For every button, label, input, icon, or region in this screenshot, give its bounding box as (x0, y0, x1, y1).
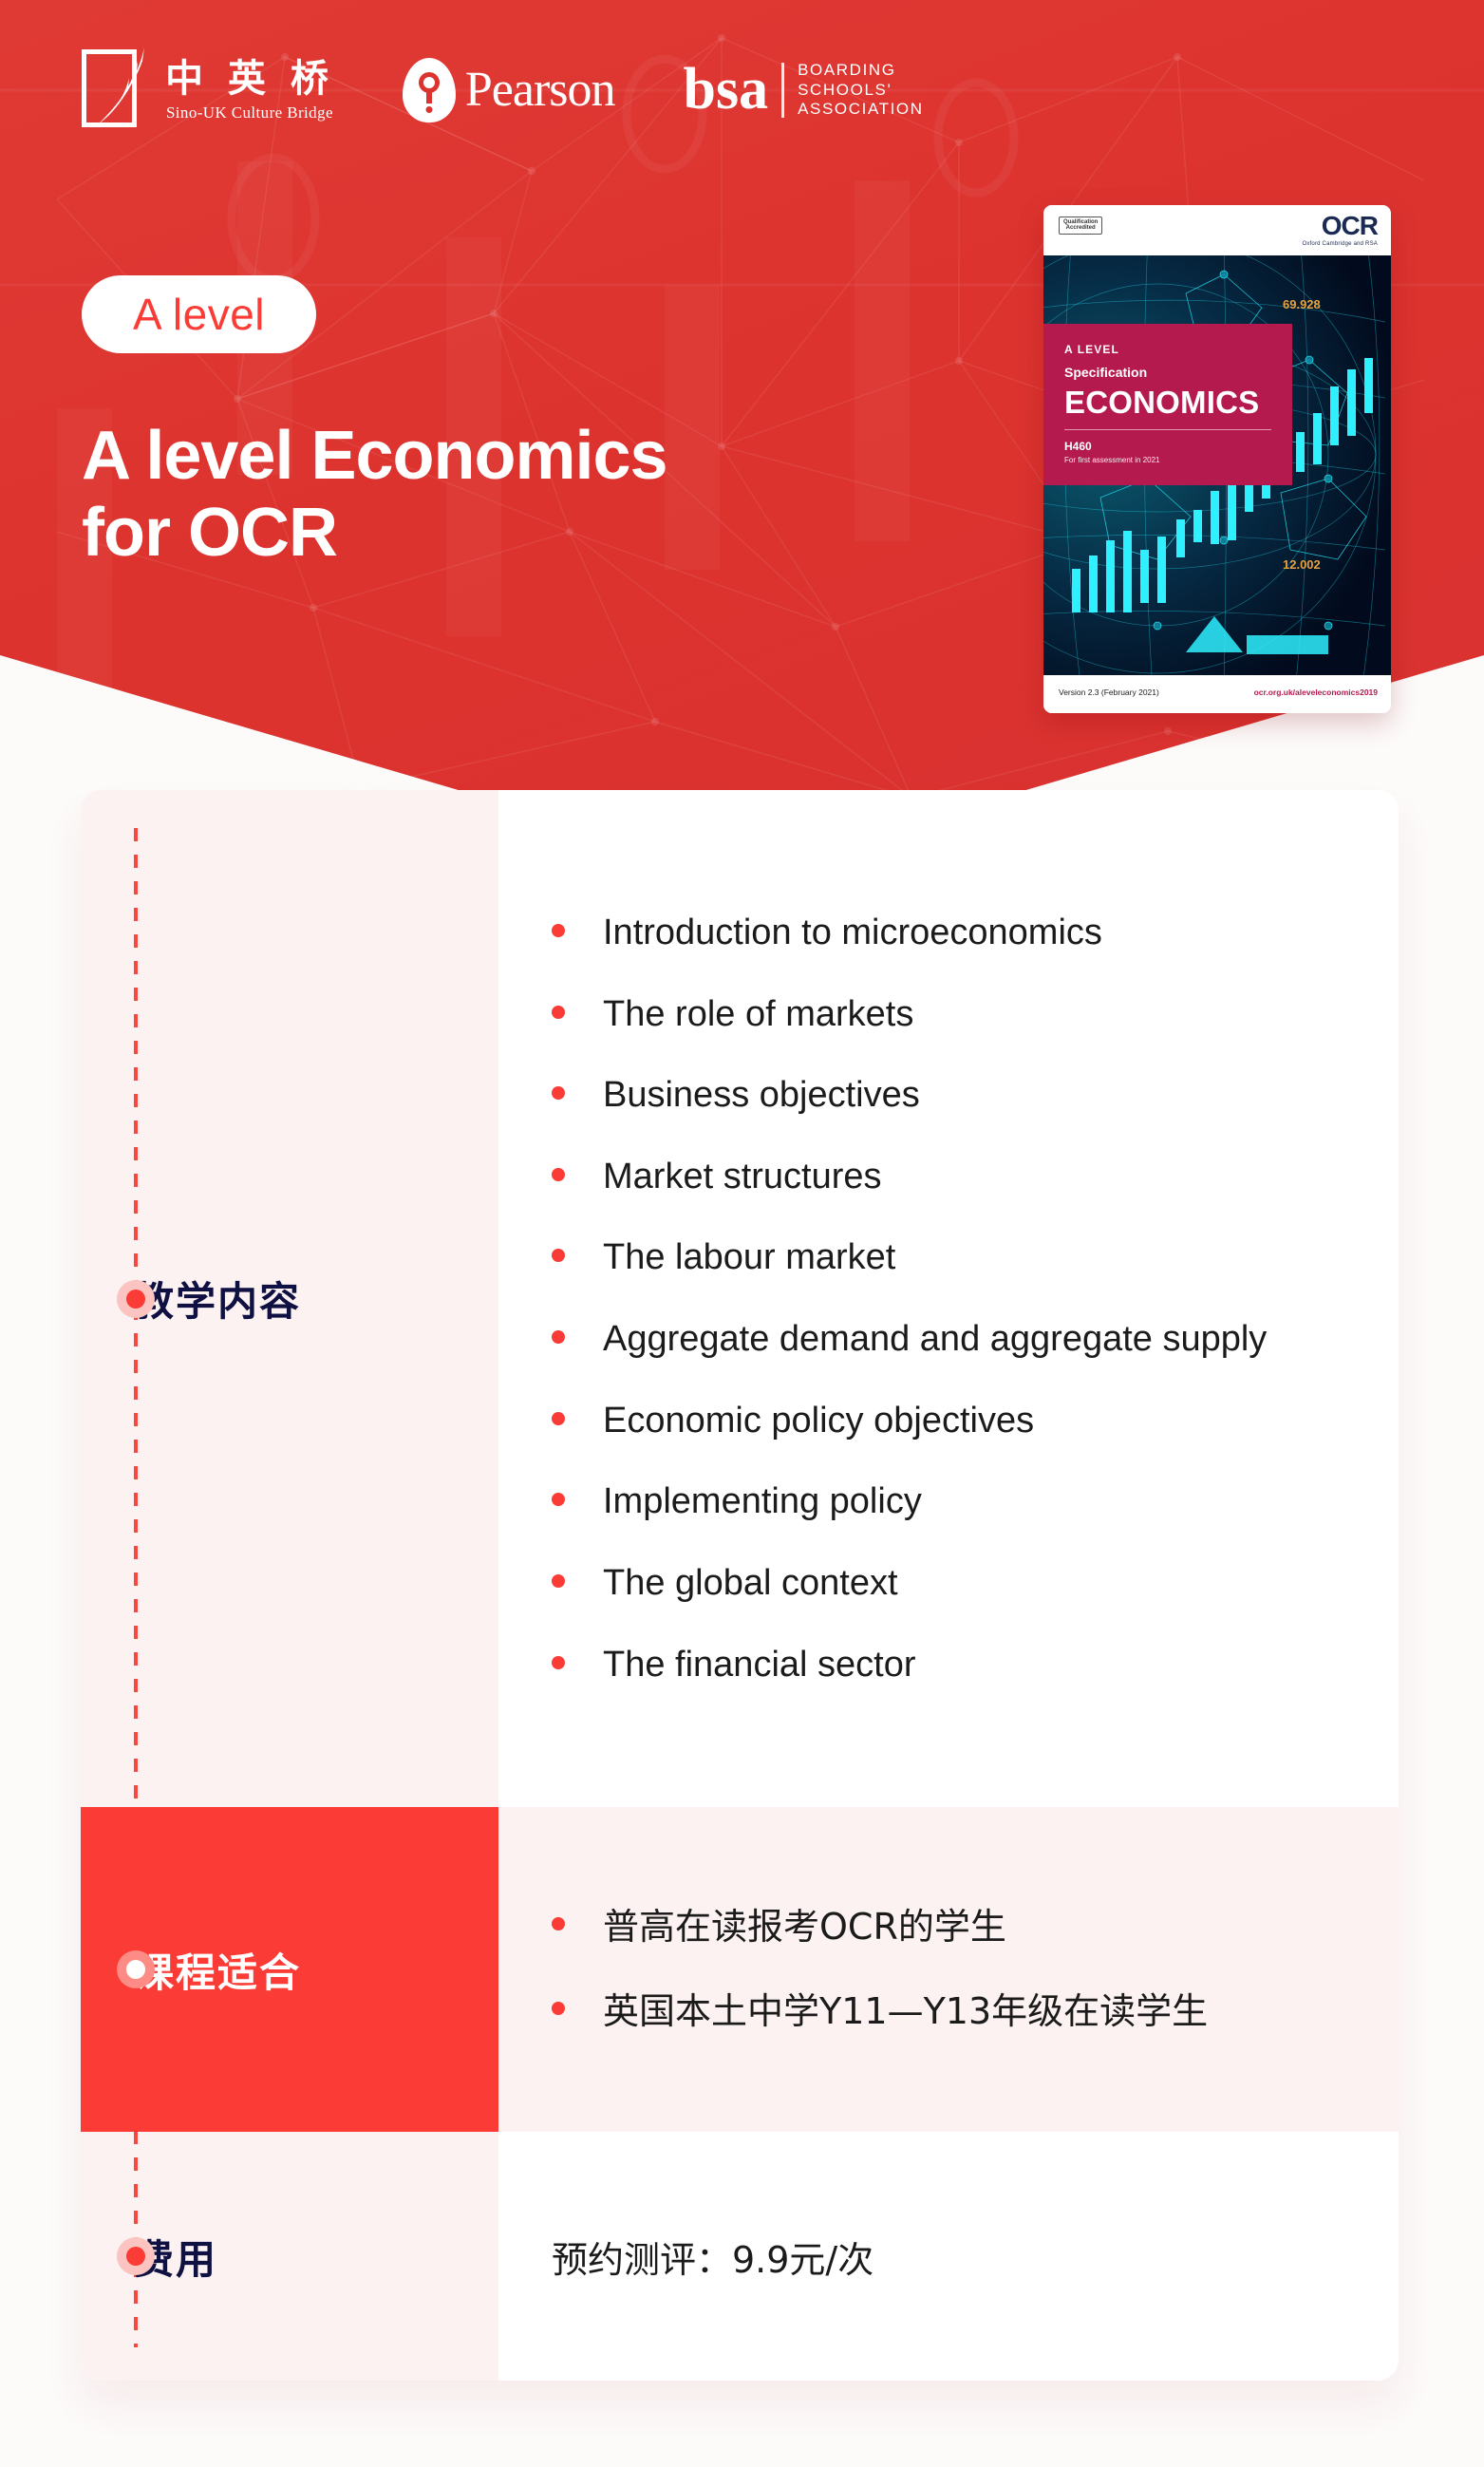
book-assessment-note: For first assessment in 2021 (1064, 456, 1271, 464)
logo-bsa: bsa BOARDING SCHOOLS' ASSOCIATION (684, 61, 924, 120)
list-item: The financial sector (552, 1642, 1267, 1688)
list-item-label: Market structures (603, 1154, 882, 1200)
bullet-dot-icon (552, 2002, 565, 2015)
chart-value-top: 69.928 (1283, 297, 1321, 311)
section-label-cell-course-suitability: 课程适合 (81, 1807, 498, 2132)
section-body-fee: 预约测评：9.9元/次 (498, 2132, 1399, 2381)
bullet-dot-icon (552, 1574, 565, 1588)
page-title: A level Economics for OCR (82, 418, 803, 571)
level-badge-label: A level (133, 290, 265, 339)
bsa-line-2: SCHOOLS' (798, 81, 924, 101)
book-doc-type: Specification (1064, 365, 1271, 380)
section-label-cell-fee: 费用 (81, 2132, 498, 2381)
bullet-dot-icon (552, 1249, 565, 1262)
page-title-line-1: A level Economics (82, 418, 803, 495)
logo-sino-uk-culture-bridge: 中 英 桥 Sino-UK Culture Bridge (82, 49, 334, 131)
list-item: The role of markets (552, 991, 1267, 1038)
bullet-dot-icon (552, 1006, 565, 1019)
bsa-line-3: ASSOCIATION (798, 100, 924, 120)
course-info-card: 教学内容 Introduction to microeconomics The … (81, 790, 1399, 2381)
book-title-band: A LEVEL Specification ECONOMICS H460 For… (1043, 324, 1292, 485)
list-item-label: 普高在读报考OCR的学生 (603, 1903, 1006, 1951)
book-level: A LEVEL (1064, 343, 1271, 356)
list-item: Aggregate demand and aggregate supply (552, 1316, 1267, 1363)
qualification-line-2: Accredited (1063, 225, 1098, 231)
section-label-teaching-content: 教学内容 (134, 1270, 301, 1328)
level-badge: A level (82, 275, 316, 353)
section-fee: 费用 预约测评：9.9元/次 (81, 2132, 1399, 2381)
bullet-dot-icon (552, 1493, 565, 1506)
specification-book-cover: Qualification Accredited OCR Oxford Camb… (1043, 205, 1391, 713)
qualification-accredited-badge: Qualification Accredited (1059, 217, 1102, 235)
list-item-label: The role of markets (603, 991, 913, 1038)
book-cover-artwork: 69.928 12.002 A LEVEL Specification ECON… (1043, 255, 1391, 675)
ocr-logo: OCR Oxford Cambridge and RSA (1302, 213, 1378, 247)
book-band-divider (1064, 429, 1271, 430)
list-item: 普高在读报考OCR的学生 (552, 1903, 1208, 1951)
bullet-dot-icon (552, 924, 565, 937)
chart-value-bottom: 12.002 (1283, 557, 1321, 572)
list-item: Introduction to microeconomics (552, 910, 1267, 956)
list-item-label: Economic policy objectives (603, 1398, 1034, 1444)
bullet-dot-icon (552, 1168, 565, 1181)
list-item: 英国本土中学Y11—Y13年级在读学生 (552, 1987, 1208, 2036)
page-title-line-2: for OCR (82, 495, 803, 572)
bsa-divider (781, 63, 784, 118)
list-item: Business objectives (552, 1072, 1267, 1119)
book-spec-code: H460 (1064, 440, 1271, 453)
list-item-label: The global context (603, 1560, 898, 1607)
teaching-content-list: Introduction to microeconomics The role … (552, 910, 1267, 1687)
bsa-full-name: BOARDING SCHOOLS' ASSOCIATION (798, 61, 924, 120)
bullet-dot-icon (552, 1086, 565, 1100)
bsa-wordmark: bsa (684, 66, 769, 114)
list-item: Implementing policy (552, 1478, 1267, 1525)
section-body-teaching-content: Introduction to microeconomics The role … (498, 790, 1399, 1807)
course-suitability-list: 普高在读报考OCR的学生 英国本土中学Y11—Y13年级在读学生 (552, 1903, 1208, 2036)
ocr-subtitle: Oxford Cambridge and RSA (1302, 241, 1378, 247)
pearson-wordmark: Pearson (465, 66, 615, 115)
section-course-suitability: 课程适合 普高在读报考OCR的学生 英国本土中学Y11—Y13年级在读学生 (81, 1807, 1399, 2132)
hero-banner: 中 英 桥 Sino-UK Culture Bridge Pearson bsa… (0, 0, 1484, 874)
bsa-line-1: BOARDING (798, 61, 924, 81)
book-cover-footer: Version 2.3 (February 2021) ocr.org.uk/a… (1043, 675, 1391, 713)
section-label-cell-teaching-content: 教学内容 (81, 790, 498, 1807)
list-item: Market structures (552, 1154, 1267, 1200)
book-url: ocr.org.uk/aleveleconomics2019 (1254, 687, 1378, 697)
book-subject: ECONOMICS (1064, 386, 1271, 418)
bullet-dot-icon (552, 1917, 565, 1930)
list-item: The global context (552, 1560, 1267, 1607)
book-cover-header: Qualification Accredited OCR Oxford Camb… (1043, 205, 1391, 255)
partner-logos: 中 英 桥 Sino-UK Culture Bridge Pearson bsa… (82, 49, 924, 131)
pearson-p-icon (403, 58, 456, 122)
section-body-course-suitability: 普高在读报考OCR的学生 英国本土中学Y11—Y13年级在读学生 (498, 1807, 1399, 2132)
list-item-label: Introduction to microeconomics (603, 910, 1102, 956)
list-item-label: The labour market (603, 1234, 895, 1281)
bullet-dot-icon (552, 1656, 565, 1669)
bullet-dot-icon (552, 1412, 565, 1425)
list-item-label: Implementing policy (603, 1478, 922, 1525)
fee-text: 预约测评：9.9元/次 (552, 2231, 873, 2283)
list-item-label: Business objectives (603, 1072, 920, 1119)
ocr-wordmark: OCR (1302, 213, 1378, 239)
sino-uk-chinese-name: 中 英 桥 (165, 60, 334, 98)
sino-uk-mark-icon (82, 49, 150, 131)
list-item-label: Aggregate demand and aggregate supply (603, 1316, 1267, 1363)
sino-uk-english-name: Sino-UK Culture Bridge (166, 104, 333, 121)
timeline-marker-teaching-content (117, 1280, 155, 1318)
list-item-label: The financial sector (603, 1642, 916, 1688)
list-item: The labour market (552, 1234, 1267, 1281)
logo-pearson: Pearson (403, 58, 615, 122)
section-label-course-suitability: 课程适合 (134, 1941, 301, 1999)
book-version: Version 2.3 (February 2021) (1059, 687, 1159, 697)
list-item: Economic policy objectives (552, 1398, 1267, 1444)
section-teaching-content: 教学内容 Introduction to microeconomics The … (81, 790, 1399, 1807)
list-item-label: 英国本土中学Y11—Y13年级在读学生 (603, 1987, 1208, 2036)
timeline-marker-course-suitability (117, 1950, 155, 1988)
bullet-dot-icon (552, 1330, 565, 1344)
timeline-marker-fee (117, 2237, 155, 2275)
